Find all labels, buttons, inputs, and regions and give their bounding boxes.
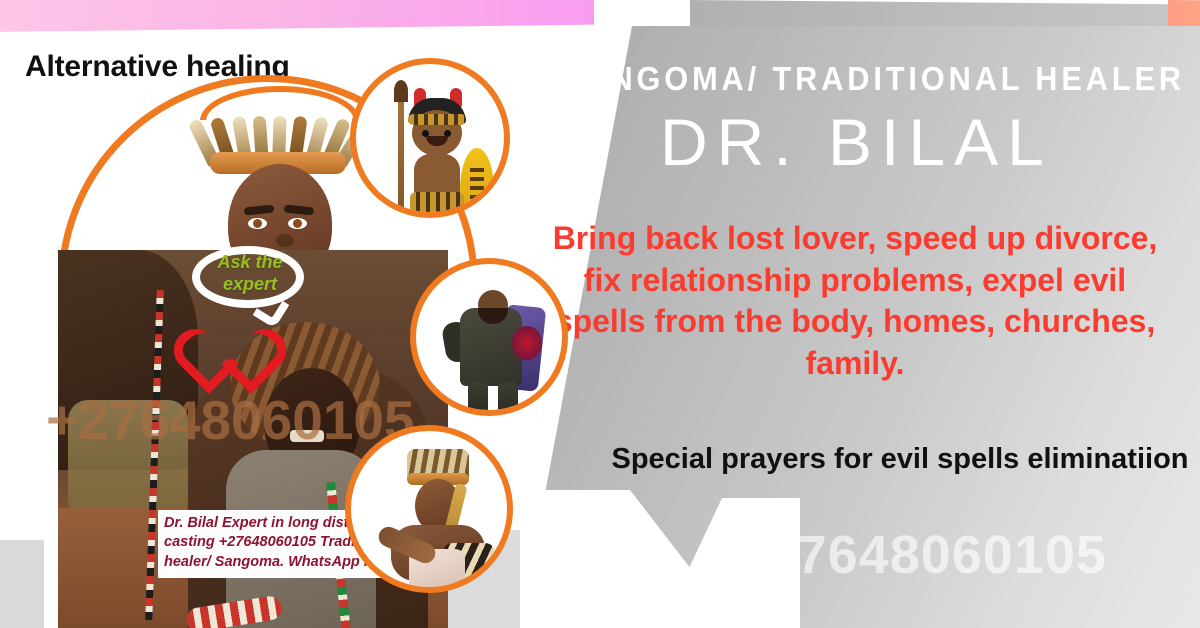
kicker-title: SANGOMA/ TRADITIONAL HEALER: [560, 60, 1137, 98]
top-band-pink: [0, 0, 594, 32]
healer-name-title: DR. BILAL: [660, 104, 1200, 180]
badge-circle-zulu-warrior: [350, 58, 510, 218]
poster-canvas: SANGOMA/ TRADITIONAL HEALER DR. BILAL Br…: [0, 0, 1200, 628]
badge-circle-diviner: [410, 258, 568, 416]
badge-circle-kneeling-healer: [345, 425, 513, 593]
watermark-phone-right: +27648060105: [640, 524, 1200, 586]
speech-bubble-text: Ask the expert: [200, 252, 300, 295]
bottom-left-grey-strip: [0, 540, 44, 628]
special-offer-text: Special prayers for evil spells eliminat…: [600, 440, 1200, 479]
services-text: Bring back lost lover, speed up divorce,…: [545, 218, 1165, 384]
